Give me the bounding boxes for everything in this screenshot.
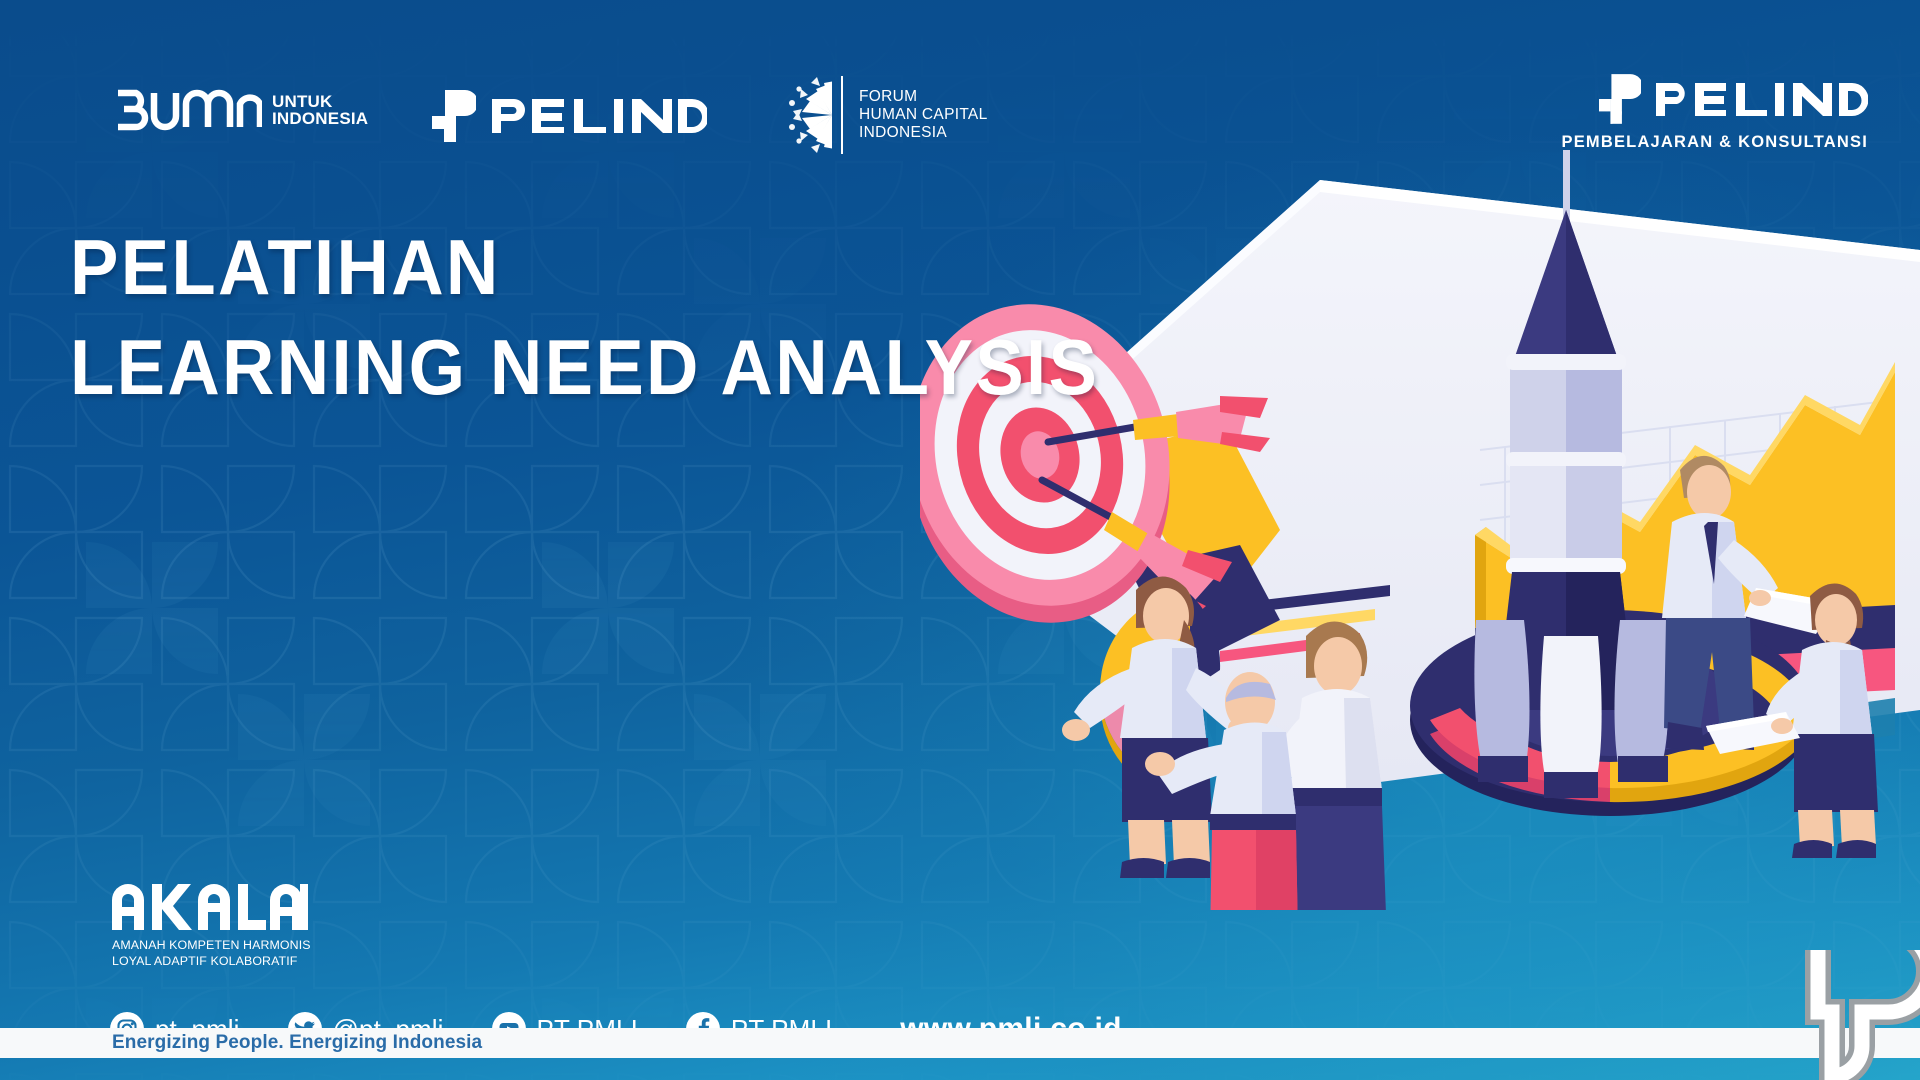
fhci-line3: INDONESIA	[859, 124, 988, 142]
logo-pelindo-header	[432, 90, 707, 142]
pelindo-mark-icon	[1599, 74, 1641, 124]
fhci-mandala-icon	[770, 76, 832, 154]
page-title: PELATIHAN LEARNING NEED ANALYSIS	[70, 228, 1177, 406]
akhlak-wordmark	[112, 884, 308, 930]
fhci-line1: FORUM	[859, 88, 988, 106]
akhlak-values-line2: LOYAL ADAPTIF KOLABORATIF	[112, 954, 311, 970]
bottom-tagline-bar: Energizing People. Energizing Indonesia	[0, 1028, 1920, 1058]
pelindo-wordmark	[492, 97, 707, 135]
logo-pelindo-pmli: PEMBELAJARAN & KONSULTANSI	[1561, 74, 1868, 152]
title-line-1: PELATIHAN	[70, 228, 1099, 306]
poster-canvas: UNTUK INDONESIA	[0, 0, 1920, 1080]
bumn-subtitle-line2: INDONESIA	[272, 110, 368, 127]
pelindo-corner-watermark-icon	[1770, 950, 1920, 1080]
fhci-text: FORUM HUMAN CAPITAL INDONESIA	[852, 88, 988, 142]
tagline-text: Energizing People. Energizing Indonesia	[112, 1032, 482, 1054]
akhlak-values-line1: AMANAH KOMPETEN HARMONIS	[112, 938, 311, 954]
bumn-subtitle: UNTUK INDONESIA	[272, 93, 368, 128]
bumn-logo-icon	[112, 88, 262, 132]
fhci-divider	[841, 76, 843, 154]
akhlak-values: AMANAH KOMPETEN HARMONIS LOYAL ADAPTIF K…	[112, 938, 311, 970]
fhci-line2: HUMAN CAPITAL	[859, 106, 988, 124]
akhlak-logo: AMANAH KOMPETEN HARMONIS LOYAL ADAPTIF K…	[112, 884, 311, 970]
logo-fhci: FORUM HUMAN CAPITAL INDONESIA	[770, 76, 988, 154]
title-line-2: LEARNING NEED ANALYSIS	[70, 328, 1099, 406]
pelindo-mark-icon	[432, 90, 476, 142]
pelindo-wordmark	[1656, 81, 1868, 118]
header-logo-row: UNTUK INDONESIA	[0, 0, 1920, 170]
logo-bumn: UNTUK INDONESIA	[112, 88, 368, 132]
bumn-subtitle-line1: UNTUK	[272, 93, 368, 110]
